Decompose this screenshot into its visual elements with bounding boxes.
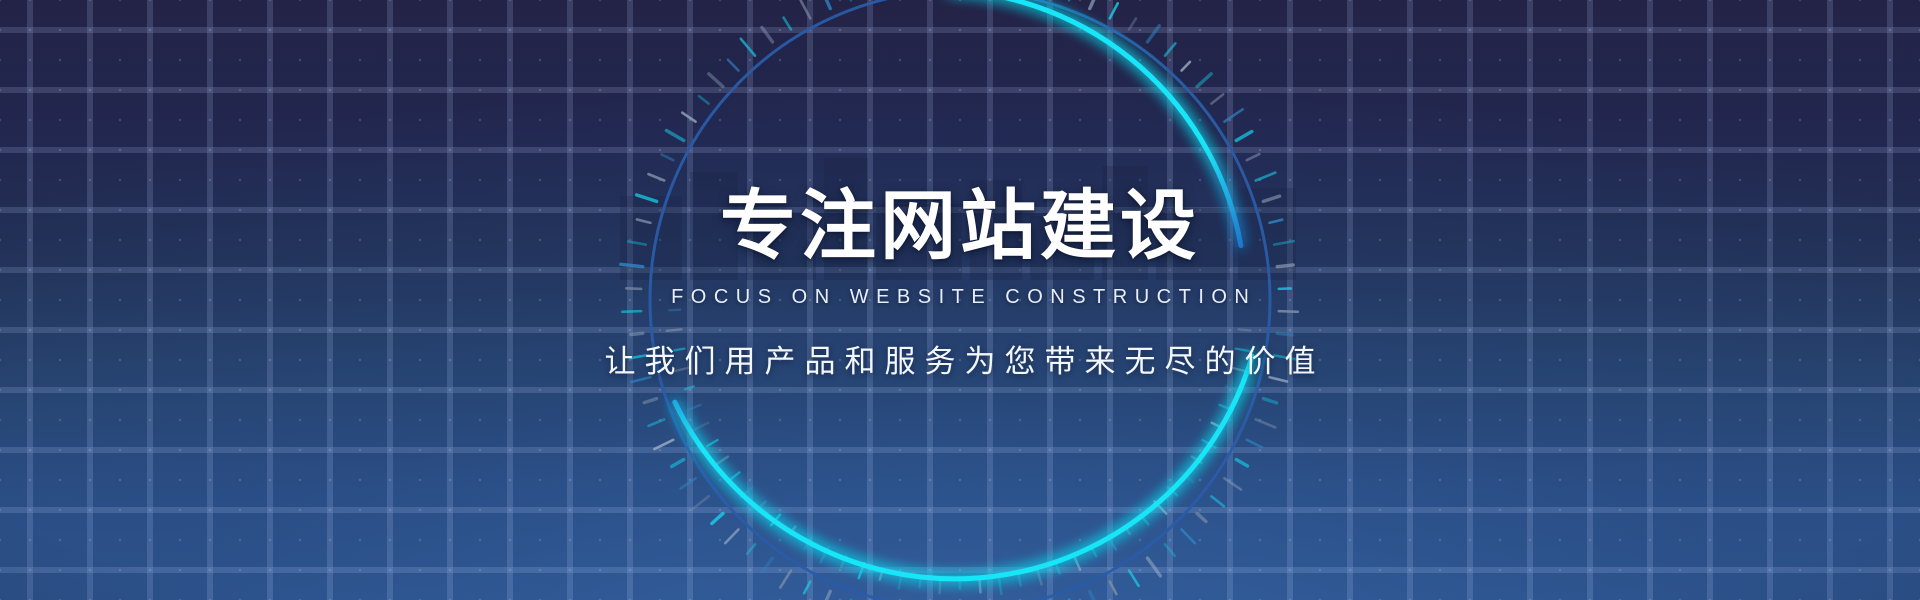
dial-tick-inner (841, 556, 846, 567)
dial-tick-inner (1125, 527, 1130, 534)
dial-tick (1165, 544, 1175, 555)
dial-tick (1256, 420, 1275, 428)
dial-tick (1224, 109, 1242, 121)
dial-tick (1236, 460, 1247, 467)
dial-tick-inner (688, 405, 700, 410)
dial-tick-inner (939, 579, 940, 593)
dial-tick (823, 591, 830, 600)
dial-tick (784, 18, 791, 30)
dial-tick (741, 39, 755, 56)
dial-tick (763, 558, 772, 571)
dial-tick-inner (899, 574, 902, 589)
dial-tick (699, 96, 708, 103)
dial-tick-inner (1168, 487, 1177, 495)
dial-tick (1090, 591, 1099, 600)
dial-tick-inner (1074, 556, 1080, 570)
dial-tick-inner (859, 563, 864, 578)
dial-tick (1256, 173, 1275, 181)
dial-tick (1197, 513, 1206, 521)
dial-tick-inner (707, 440, 717, 446)
arc-cyan-bottom (675, 356, 1252, 579)
dial-tick (728, 60, 738, 71)
dial-tick-inner (1018, 574, 1020, 586)
dial-tick (1129, 571, 1139, 586)
dial-tick (709, 74, 723, 87)
tagline-chinese: 让我们用产品和服务为您带来无尽的价值 (0, 336, 1920, 381)
dial-tick (682, 113, 695, 122)
dial-tick (800, 0, 810, 18)
dial-tick-inner (1226, 387, 1235, 390)
dial-tick-inner (999, 577, 1001, 594)
dial-tick (1247, 154, 1260, 160)
dial-tick-inner (1108, 537, 1115, 549)
dial-tick-inner (693, 423, 708, 430)
dial-tick-inner (715, 457, 728, 466)
dial-tick (1110, 3, 1118, 18)
dial-tick-inner (731, 472, 740, 479)
dial-tick (804, 582, 810, 593)
dial-tick (654, 440, 673, 449)
dial-tick (823, 0, 830, 9)
dial-tick (1148, 558, 1161, 576)
dial-tick (780, 571, 791, 588)
dial-tick (1148, 26, 1160, 42)
hero-banner: 专注网站建设 FOCUS ON WEBSITE CONSTRUCTION 让我们… (0, 0, 1920, 600)
dial-tick (648, 420, 664, 426)
dial-tick (648, 174, 664, 180)
dial-tick (762, 27, 773, 42)
dial-tick-inner (920, 577, 921, 587)
dial-tick-inner (1056, 563, 1060, 573)
dial-tick (1247, 440, 1262, 447)
dial-tick-inner (1091, 547, 1096, 556)
dial-tick (1197, 74, 1211, 87)
dial-tick-inner (1212, 423, 1221, 427)
dial-tick (712, 513, 723, 523)
dial-tick (1211, 94, 1223, 103)
dial-tick (1211, 496, 1224, 506)
dial-tick (1129, 18, 1136, 29)
dial-tick-inner (759, 501, 766, 508)
dial-tick (672, 460, 684, 467)
dial-tick (1110, 582, 1117, 594)
banner-text-block: 专注网站建设 FOCUS ON WEBSITE CONSTRUCTION 让我们… (0, 188, 1920, 381)
dial-tick (747, 544, 755, 553)
dial-tick-inner (1192, 457, 1201, 463)
dial-tick-inner (741, 487, 752, 497)
page-title: 专注网站建设 (0, 188, 1920, 264)
dial-tick (644, 399, 656, 403)
dial-tick-inner (1202, 440, 1215, 448)
dial-tick-inner (1037, 569, 1041, 584)
dial-tick (666, 131, 683, 141)
dial-tick-inner (685, 387, 694, 390)
dial-tick (725, 529, 738, 543)
dial-tick-inner (821, 547, 829, 562)
dial-tick-inner (790, 527, 795, 534)
dial-tick-inner (880, 569, 883, 580)
dial-tick (662, 154, 674, 160)
dial-tick-inner (1220, 405, 1233, 410)
dial-tick (1165, 43, 1175, 55)
dial-tick-inner (1140, 514, 1148, 524)
dial-tick (1236, 132, 1252, 141)
subtitle-english: FOCUS ON WEBSITE CONSTRUCTION (0, 286, 1920, 309)
dial-tick (681, 478, 696, 488)
dial-tick-inner (805, 537, 812, 548)
dial-tick (1224, 478, 1241, 489)
dial-tick (1182, 62, 1190, 71)
dial-tick-inner (1155, 501, 1167, 513)
dial-tick-inner (980, 579, 981, 592)
dial-tick (1182, 529, 1195, 543)
dial-tick-inner (771, 514, 780, 525)
dial-tick (1263, 399, 1276, 403)
dial-tick-inner (1181, 472, 1194, 482)
dial-tick (691, 496, 708, 510)
dial-tick (1090, 0, 1099, 9)
